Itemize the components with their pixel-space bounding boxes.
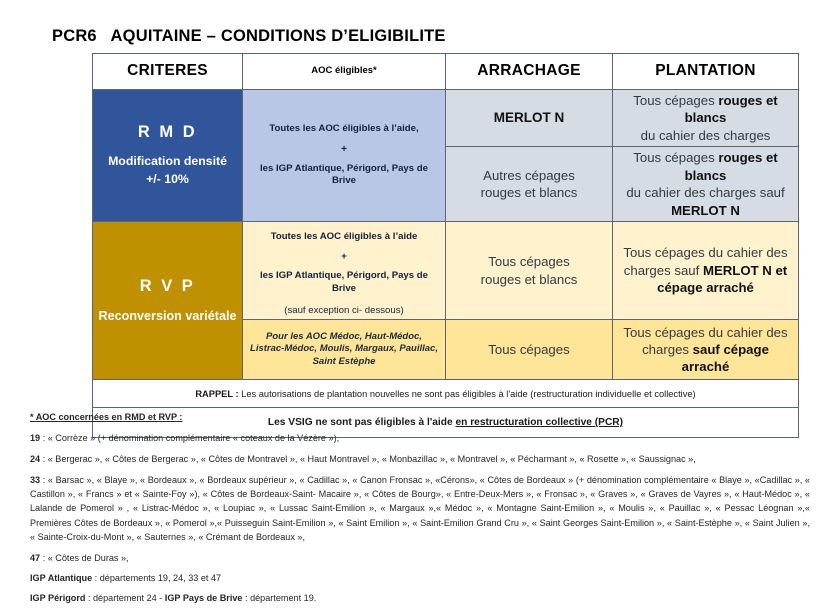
rappel-cell: RAPPEL : Les autorisations de plantation… xyxy=(93,380,799,408)
rvp-code: R V P xyxy=(98,276,237,298)
footnotes-section: * AOC concernées en RMD et RVP : 19 : « … xyxy=(30,410,810,612)
igp-atlantique-label: IGP Atlantique xyxy=(30,573,92,583)
arrachage-cell-rmd-2: Autres cépages rouges et blancs xyxy=(446,147,613,222)
rmd-aoc-line1: Toutes les AOC éligibles à l’aide, xyxy=(248,123,440,136)
rmd-label-line2: +/- 10% xyxy=(98,171,237,189)
aoc-cell-rmd: Toutes les AOC éligibles à l’aide, + les… xyxy=(243,90,446,222)
column-header-arrachage: ARRACHAGE xyxy=(446,54,613,90)
aoc-cell-rvp-1: Toutes les AOC éligibles à l’aide + les … xyxy=(243,221,446,319)
document-page: PCR6 AQUITAINE – CONDITIONS D’ELIGIBILIT… xyxy=(0,0,826,610)
footnote-igp-atlantique: IGP Atlantique : départements 19, 24, 33… xyxy=(30,571,810,585)
footnotes-heading-colon: : xyxy=(177,412,183,422)
column-header-plantation: PLANTATION xyxy=(613,54,799,90)
rvp1-plantation-line1: Tous cépages du cahier des xyxy=(623,245,787,260)
arrachage-cell-rvp-1: Tous cépages rouges et blancs xyxy=(446,221,613,319)
footnote-text-19: : « Corrèze » (+ dénomination complément… xyxy=(40,433,339,443)
rmd-aoc-line2: les IGP Atlantique, Périgord, Pays de Br… xyxy=(248,163,440,188)
page-title: PCR6 AQUITAINE – CONDITIONS D’ELIGIBILIT… xyxy=(52,27,446,46)
footnote-text-24: : « Bergerac », « Côtes de Bergerac », «… xyxy=(40,454,696,464)
igp-atlantique-text: : départements 19, 24, 33 et 47 xyxy=(92,573,221,583)
rmd-aoc-plus: + xyxy=(248,143,440,156)
plantation-cell-rvp-1: Tous cépages du cahier des charges sauf … xyxy=(613,221,799,319)
rvp2-plantation-line1: Tous cépages du cahier des xyxy=(623,325,787,340)
rmd-code: R M D xyxy=(98,122,237,144)
footnote-code-19: 19 xyxy=(30,433,40,443)
rvp1-aoc-note: (sauf exception ci- dessous) xyxy=(248,305,440,318)
rmd2-plantation-line2: du cahier des charges sauf xyxy=(626,185,784,200)
rmd1-plantation-line1-pre: Tous cépages xyxy=(633,93,718,108)
footnote-code-47: 47 xyxy=(30,553,40,563)
plantation-cell-rmd-1: Tous cépages rouges et blancs du cahier … xyxy=(613,90,799,147)
eligibility-table: CRITERES AOC éligibles* ARRACHAGE PLANTA… xyxy=(92,53,799,438)
rvp1-aoc-line1: Toutes les AOC éligibles à l’aide xyxy=(248,231,440,244)
igp-perigord-label: IGP Périgord xyxy=(30,593,85,603)
footnote-code-24: 24 xyxy=(30,454,40,464)
footnote-igp-perigord-brive: IGP Périgord : département 24 - IGP Pays… xyxy=(30,591,810,605)
footnote-code-33: 33 xyxy=(30,475,40,485)
footnote-item-24: 24 : « Bergerac », « Côtes de Bergerac »… xyxy=(30,452,810,466)
footnote-text-33: : « Barsac », « Blaye », « Bordeaux », «… xyxy=(30,475,810,541)
rvp1-plantation-line2-pre: charges sauf xyxy=(624,263,703,278)
footnotes-heading: * AOC concernées en RMD et RVP : xyxy=(30,410,810,424)
rmd2-plantation-line3: MERLOT N xyxy=(671,203,740,218)
footnote-item-47: 47 : « Côtes de Duras », xyxy=(30,551,810,565)
column-header-criteres: CRITERES xyxy=(93,54,243,90)
rvp1-plantation-line3: cépage arraché xyxy=(657,280,754,295)
table-header-row: CRITERES AOC éligibles* ARRACHAGE PLANTA… xyxy=(93,54,799,90)
igp-perigord-text: : département 24 - xyxy=(85,593,164,603)
footnote-item-19: 19 : « Corrèze » (+ dénomination complém… xyxy=(30,431,810,445)
rvp1-aoc-line2: les IGP Atlantique, Périgord, Pays de Br… xyxy=(248,270,440,295)
column-header-aoc: AOC éligibles* xyxy=(243,54,446,90)
arrachage-cell-rmd-1: MERLOT N xyxy=(446,90,613,147)
criteria-cell-rmd: R M D Modification densité +/- 10% xyxy=(93,90,243,222)
table-row-rmd-1: R M D Modification densité +/- 10% Toute… xyxy=(93,90,799,147)
footnote-item-33: 33 : « Barsac », « Blaye », « Bordeaux »… xyxy=(30,473,810,543)
aoc-cell-rvp-2: Pour les AOC Médoc, Haut-Médoc, Listrac-… xyxy=(243,320,446,380)
rvp2-plantation-line2-pre: charges xyxy=(642,342,693,357)
footnote-text-47: : « Côtes de Duras », xyxy=(40,553,128,563)
rmd-label-line1: Modification densité xyxy=(98,153,237,171)
table-row-rappel: RAPPEL : Les autorisations de plantation… xyxy=(93,380,799,408)
plantation-cell-rmd-2: Tous cépages rouges et blancs du cahier … xyxy=(613,147,799,222)
rvp1-arrachage-line1: Tous cépages xyxy=(488,254,569,269)
table-row-rvp-1: R V P Reconversion variétale Toutes les … xyxy=(93,221,799,319)
igp-brive-text: : département 19. xyxy=(242,593,316,603)
igp-brive-label: IGP Pays de Brive xyxy=(165,593,243,603)
arrachage-cell-rvp-2: Tous cépages xyxy=(446,320,613,380)
rappel-text: Les autorisations de plantation nouvelle… xyxy=(241,389,696,399)
rvp1-arrachage-line2: rouges et blancs xyxy=(481,272,578,287)
rmd2-arrachage-line1: Autres cépages xyxy=(483,168,575,183)
criteria-cell-rvp: R V P Reconversion variétale xyxy=(93,221,243,379)
rmd2-plantation-line1-pre: Tous cépages xyxy=(633,150,718,165)
rvp2-plantation-line2-bold: sauf cépage arraché xyxy=(682,342,769,374)
rvp-label: Reconversion variétale xyxy=(98,308,237,325)
rvp1-plantation-line2-bold: MERLOT N et xyxy=(703,263,787,278)
footnotes-heading-text: AOC concernées en RMD et RVP xyxy=(36,412,177,422)
rmd2-arrachage-line2: rouges et blancs xyxy=(481,185,578,200)
rappel-label: RAPPEL : xyxy=(195,389,241,399)
rmd1-plantation-line2: du cahier des charges xyxy=(641,128,771,143)
plantation-cell-rvp-2: Tous cépages du cahier des charges sauf … xyxy=(613,320,799,380)
rvp1-aoc-plus: + xyxy=(248,251,440,264)
